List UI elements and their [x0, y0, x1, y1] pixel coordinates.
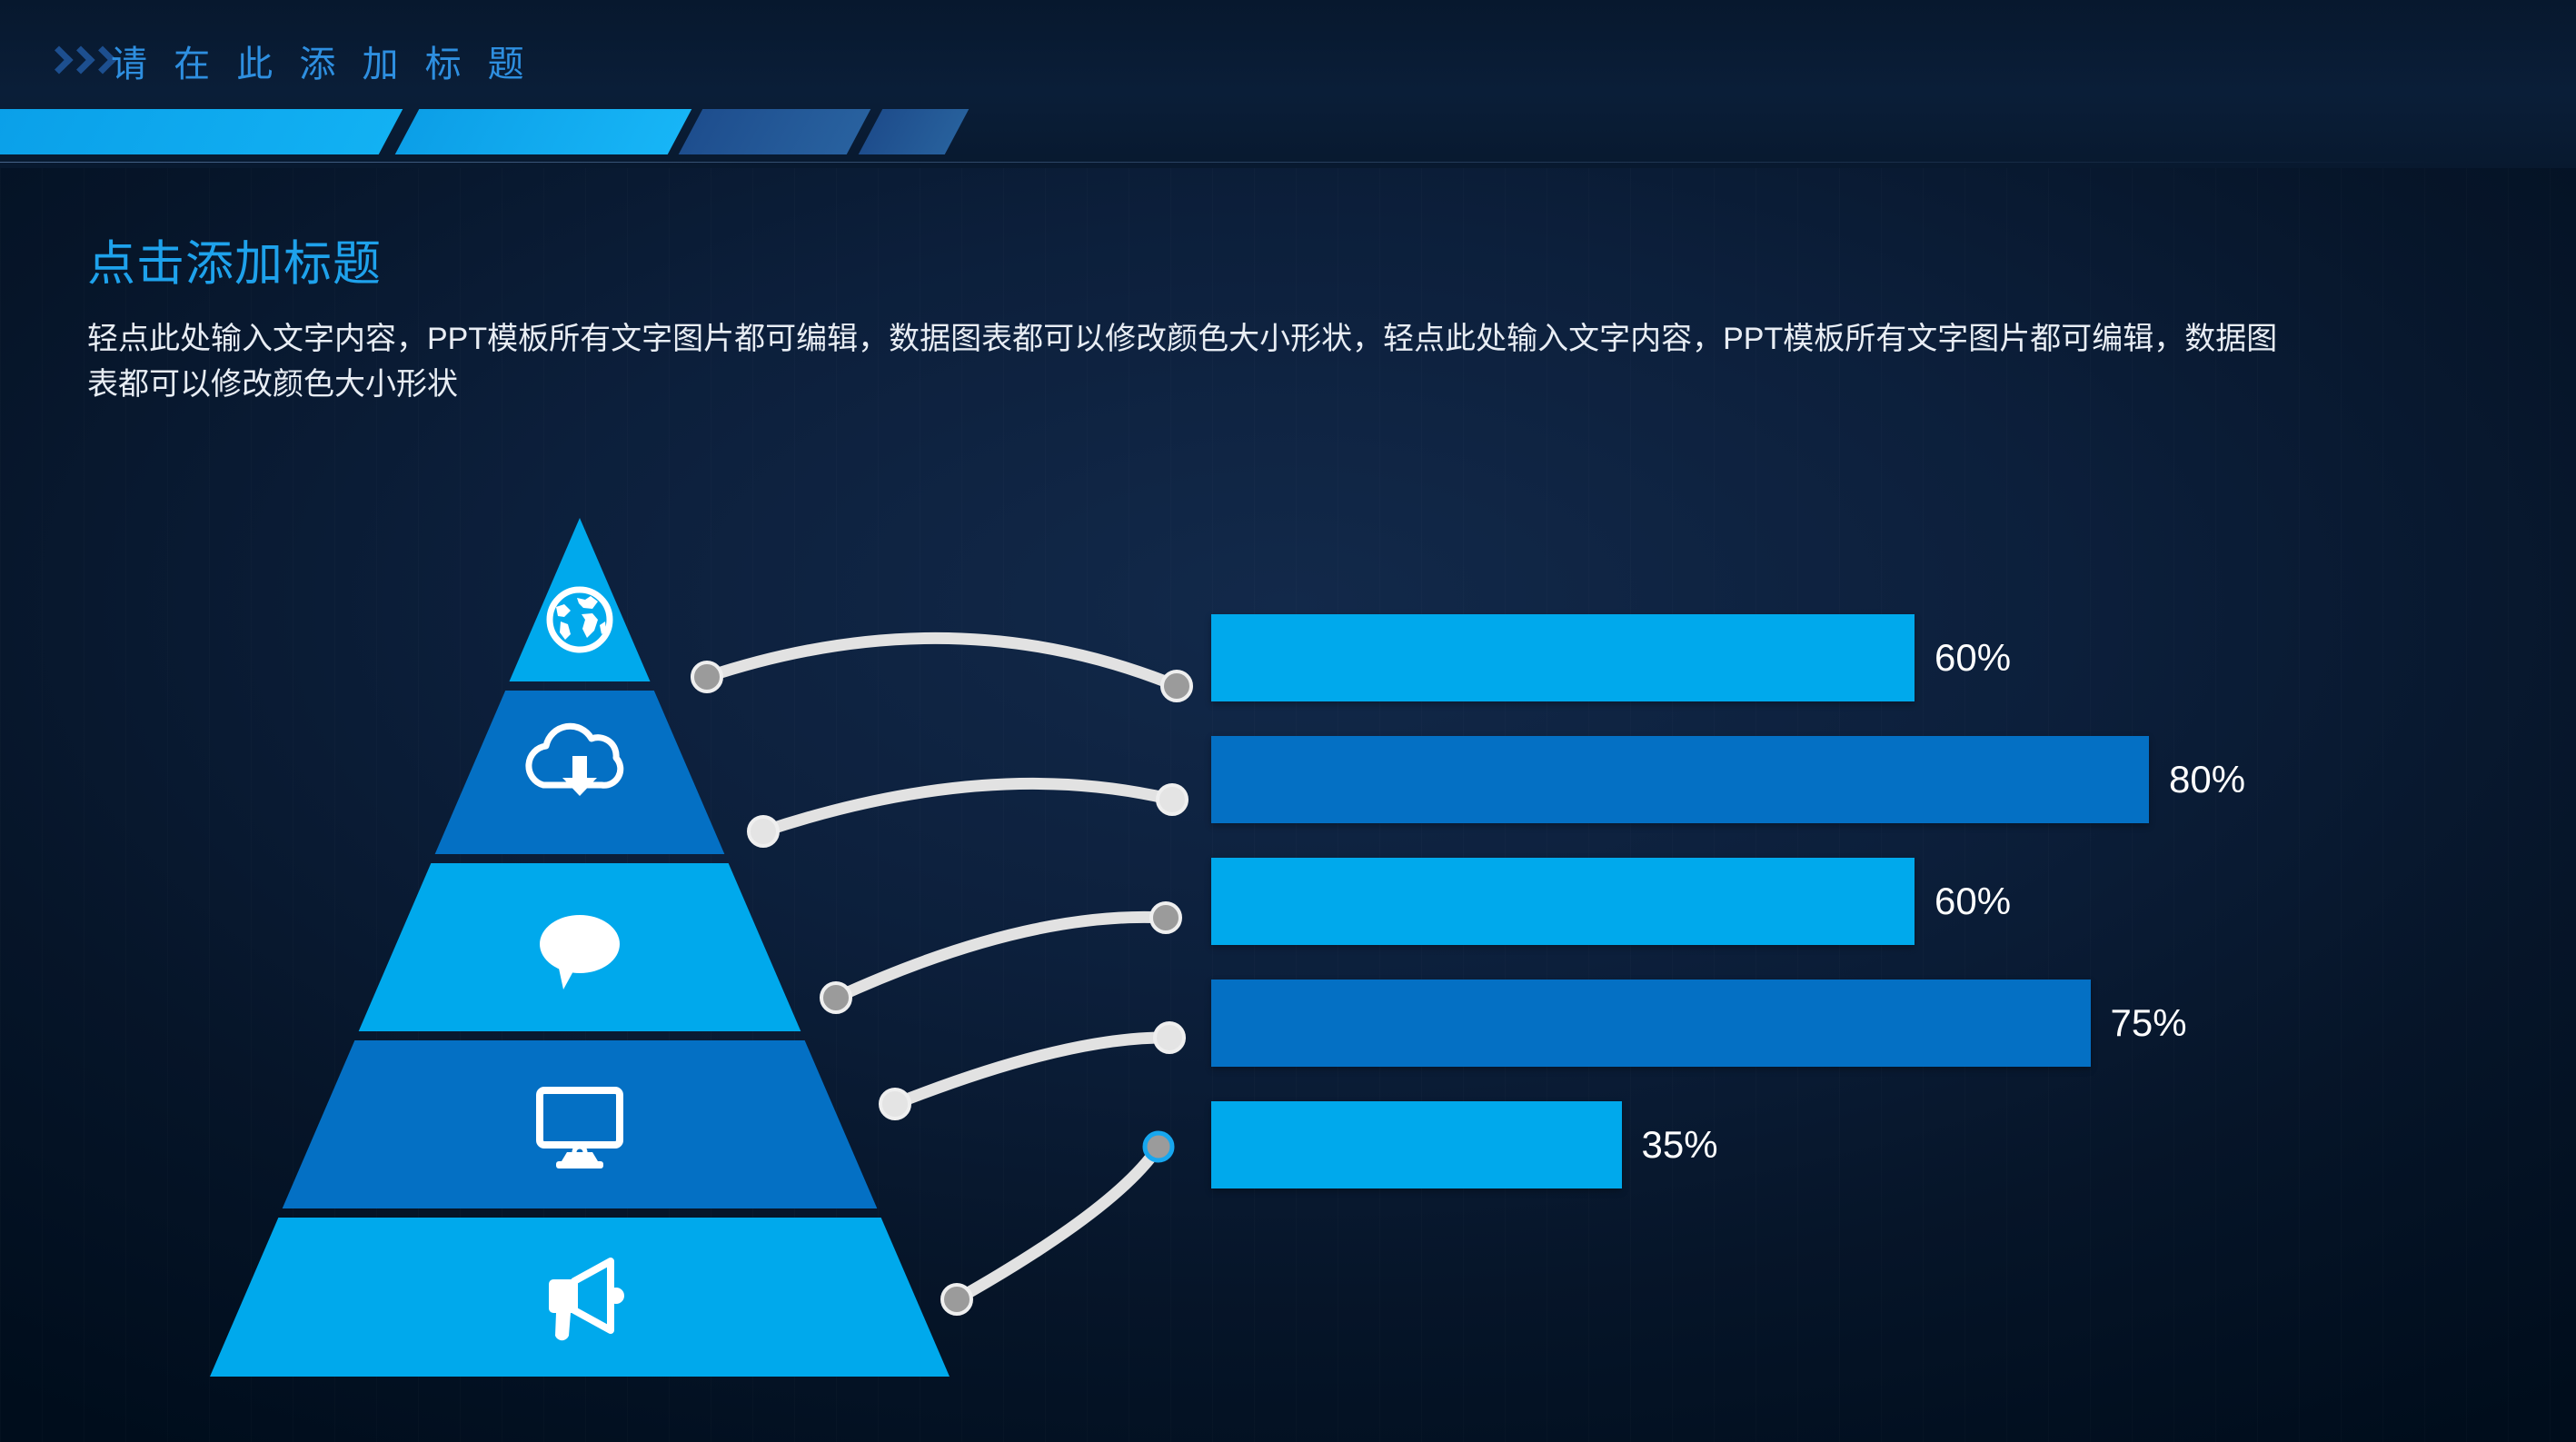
- chevron-right-icon: [47, 44, 67, 80]
- bar-value-3: 60%: [1934, 880, 2011, 923]
- accent-bar-4: [859, 109, 970, 154]
- chevron-right-icon: [69, 44, 89, 80]
- bar-chart: 60% 80% 60% 75% 35%: [1211, 614, 2529, 1223]
- chevron-right-icon: [91, 44, 111, 80]
- pyramid-level-2[interactable]: [182, 691, 1000, 854]
- bar-value-4: 75%: [2111, 1001, 2187, 1045]
- bar-row[interactable]: 60%: [1211, 614, 2529, 701]
- pyramid-diagram: [182, 509, 1000, 1399]
- bar-row[interactable]: 60%: [1211, 858, 2529, 945]
- bar-row[interactable]: 35%: [1211, 1101, 2529, 1188]
- body-paragraph: 轻点此处输入文字内容，PPT模板所有文字图片都可编辑，数据图表都可以修改颜色大小…: [87, 316, 2304, 408]
- slide-header: 请 在 此 添 加 标 题: [0, 0, 2576, 168]
- header-accent-strip: [0, 109, 2576, 154]
- connector-dot-end-5[interactable]: [1145, 1133, 1172, 1160]
- connector-dot-end-4[interactable]: [1155, 1023, 1184, 1052]
- bar-fill-1[interactable]: [1211, 614, 1915, 701]
- accent-bar-2: [395, 109, 692, 154]
- bar-fill-2[interactable]: [1211, 736, 2149, 823]
- chevron-group: [47, 44, 111, 80]
- bar-fill-4[interactable]: [1211, 980, 2091, 1067]
- bar-fill-3[interactable]: [1211, 858, 1915, 945]
- connector-dot-end-2[interactable]: [1158, 785, 1187, 814]
- accent-bar-3: [679, 109, 871, 154]
- connector-dot-end-3[interactable]: [1151, 903, 1180, 932]
- header-divider-line: [0, 162, 2453, 163]
- accent-bar-1: [0, 109, 403, 154]
- header-title: 请 在 此 添 加 标 题: [111, 35, 532, 87]
- pyramid-level-5[interactable]: [182, 1218, 1000, 1386]
- section-title: 点击添加标题: [87, 225, 382, 294]
- bar-row[interactable]: 75%: [1211, 980, 2529, 1067]
- bar-row[interactable]: 80%: [1211, 736, 2529, 823]
- bar-value-5: 35%: [1642, 1123, 1718, 1167]
- bar-value-2: 80%: [2169, 758, 2245, 801]
- bar-value-1: 60%: [1934, 636, 2011, 680]
- slide-canvas: 请 在 此 添 加 标 题 点击添加标题 轻点此处输入文字内容，PPT模板所有文…: [0, 0, 2576, 1442]
- bar-fill-5[interactable]: [1211, 1101, 1622, 1188]
- connector-dot-end-1[interactable]: [1162, 671, 1191, 701]
- pyramid-level-4[interactable]: [182, 1040, 1000, 1208]
